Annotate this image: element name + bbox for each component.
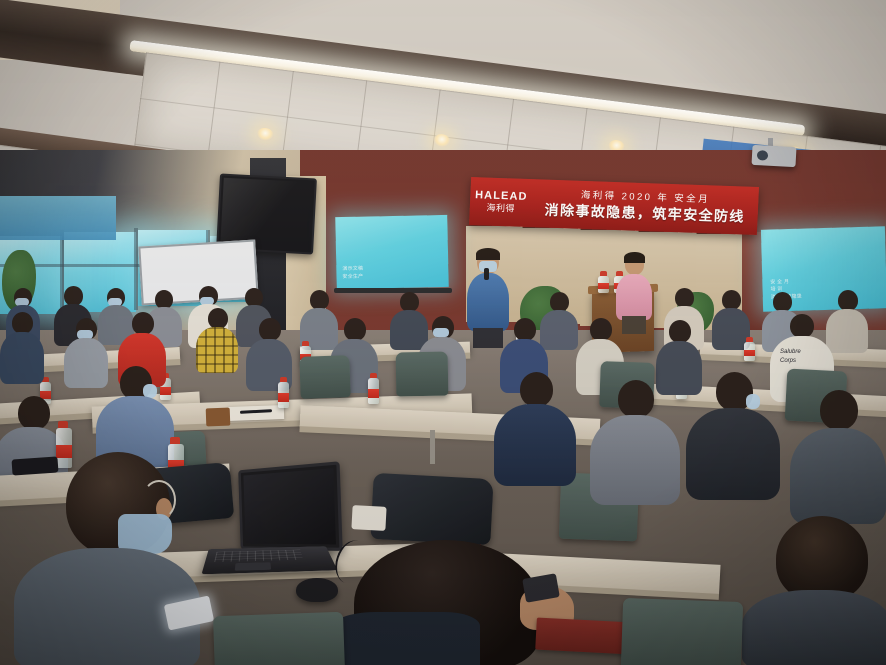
bottled-water (368, 378, 379, 404)
clipboard (206, 408, 231, 427)
attendee-head (132, 312, 154, 335)
laptop-bag-right (370, 473, 493, 545)
foreground-attendee-right-edge (742, 516, 886, 665)
window-mullion-2 (134, 228, 138, 310)
attendee-mask (746, 394, 760, 409)
bottled-water (744, 342, 755, 361)
attendee-plaid (196, 308, 238, 370)
attendee-head (675, 288, 694, 308)
podium-presenter-hair (624, 252, 645, 263)
banner-text: 海利得 2020 年 安全月 消除事故隐患，筑牢安全防线 (531, 189, 758, 224)
attendee-head (344, 318, 366, 341)
attendee-front-dark (686, 372, 780, 496)
attendee-head (310, 290, 329, 310)
company-logo-latin: HALEAD (475, 190, 528, 203)
attendee-front-teal (790, 390, 886, 520)
presenter-hair (476, 248, 500, 260)
podium-presenter-trousers (622, 316, 646, 334)
bottle-label (278, 393, 289, 402)
left-projection-screen: 演示文稿 安全生产 (335, 215, 448, 289)
chair-foreground (621, 598, 743, 665)
attendee-head (208, 308, 228, 329)
projector-lens (757, 150, 769, 161)
attendee-head (18, 396, 50, 430)
bottle-cap (370, 373, 377, 378)
power-adapter (351, 505, 386, 531)
company-logo: HALEAD 海利得 (470, 190, 533, 214)
laptop-trackpad[interactable] (235, 562, 271, 571)
attendee-head (520, 372, 553, 407)
attendee-head (590, 318, 612, 341)
chair (299, 355, 350, 399)
attendee-head (400, 292, 419, 312)
safety-month-banner: HALEAD 海利得 海利得 2020 年 安全月 消除事故隐患，筑牢安全防线 (469, 177, 759, 235)
bottle-cap (746, 337, 753, 342)
ceiling-projector (752, 145, 797, 167)
left-wall-upper-glass (0, 196, 116, 240)
dell-laptop[interactable] (206, 466, 338, 582)
laptop-lid (238, 461, 343, 551)
chair-foreground-left (213, 612, 345, 665)
laptop-keyboard[interactable] (214, 550, 303, 563)
presenter-microphone (484, 268, 489, 280)
foreground-attendee-long-hair (330, 540, 550, 665)
attendee-head (64, 286, 83, 306)
attendee-head (12, 312, 33, 334)
attendee-torso (790, 428, 886, 524)
table-leg (430, 430, 435, 464)
bottle-cap (600, 271, 607, 276)
attendee-front-grey (590, 380, 680, 500)
banner-slogan: 消除事故隐患，筑牢安全防线 (544, 202, 745, 224)
attendee-head (514, 318, 536, 341)
laptop-base[interactable] (202, 546, 338, 574)
foreground-attendee-phone-user (14, 452, 214, 665)
attendee-torso (330, 612, 480, 665)
left-projection-screen-text: 演示文稿 安全生产 (342, 266, 363, 281)
attendee-torso-plaid (196, 327, 238, 373)
attendee-mask (433, 328, 449, 337)
bottled-water (598, 276, 609, 293)
bottled-water (278, 382, 289, 408)
attendee-head (722, 290, 741, 310)
attendee-head (773, 292, 792, 312)
bottle-cap (58, 421, 68, 428)
bottle-cap (170, 437, 180, 444)
attendee-head (820, 390, 858, 430)
laptop-screen (243, 468, 336, 544)
attendee-torso (742, 590, 886, 665)
bottle-cap (302, 341, 309, 346)
attendee-head (838, 290, 858, 311)
bottle-label (368, 389, 379, 398)
presenter-trousers (473, 328, 503, 348)
attendee (0, 312, 44, 382)
bottle-label (744, 350, 755, 356)
attendee-torso (686, 408, 780, 500)
attendee-torso (494, 404, 576, 486)
attendee (712, 290, 750, 348)
attendee-head (550, 292, 569, 312)
attendee-head (618, 380, 654, 418)
podium-presenter-torso (616, 274, 652, 320)
company-logo-chinese: 海利得 (486, 204, 515, 214)
attendee-head (790, 314, 814, 338)
attendee-torso (0, 332, 44, 384)
attendee-head (669, 320, 691, 343)
bottle-cap (280, 377, 287, 382)
attendee-torso (590, 415, 680, 505)
tshirt-print: SalubreCorps (780, 348, 820, 370)
bottle-label (598, 283, 609, 289)
chair (396, 352, 449, 397)
tv-screen-glare (220, 178, 312, 251)
attendee-front-navy (494, 372, 576, 482)
attendee-head (259, 318, 281, 341)
red-notebook (535, 618, 633, 655)
conference-room-photo: 演示文稿 安全生产 安 全 月 培 训 消除事故隐患 HALEAD 海利得 海利… (0, 0, 886, 665)
attendee-mask-strap (142, 480, 176, 520)
